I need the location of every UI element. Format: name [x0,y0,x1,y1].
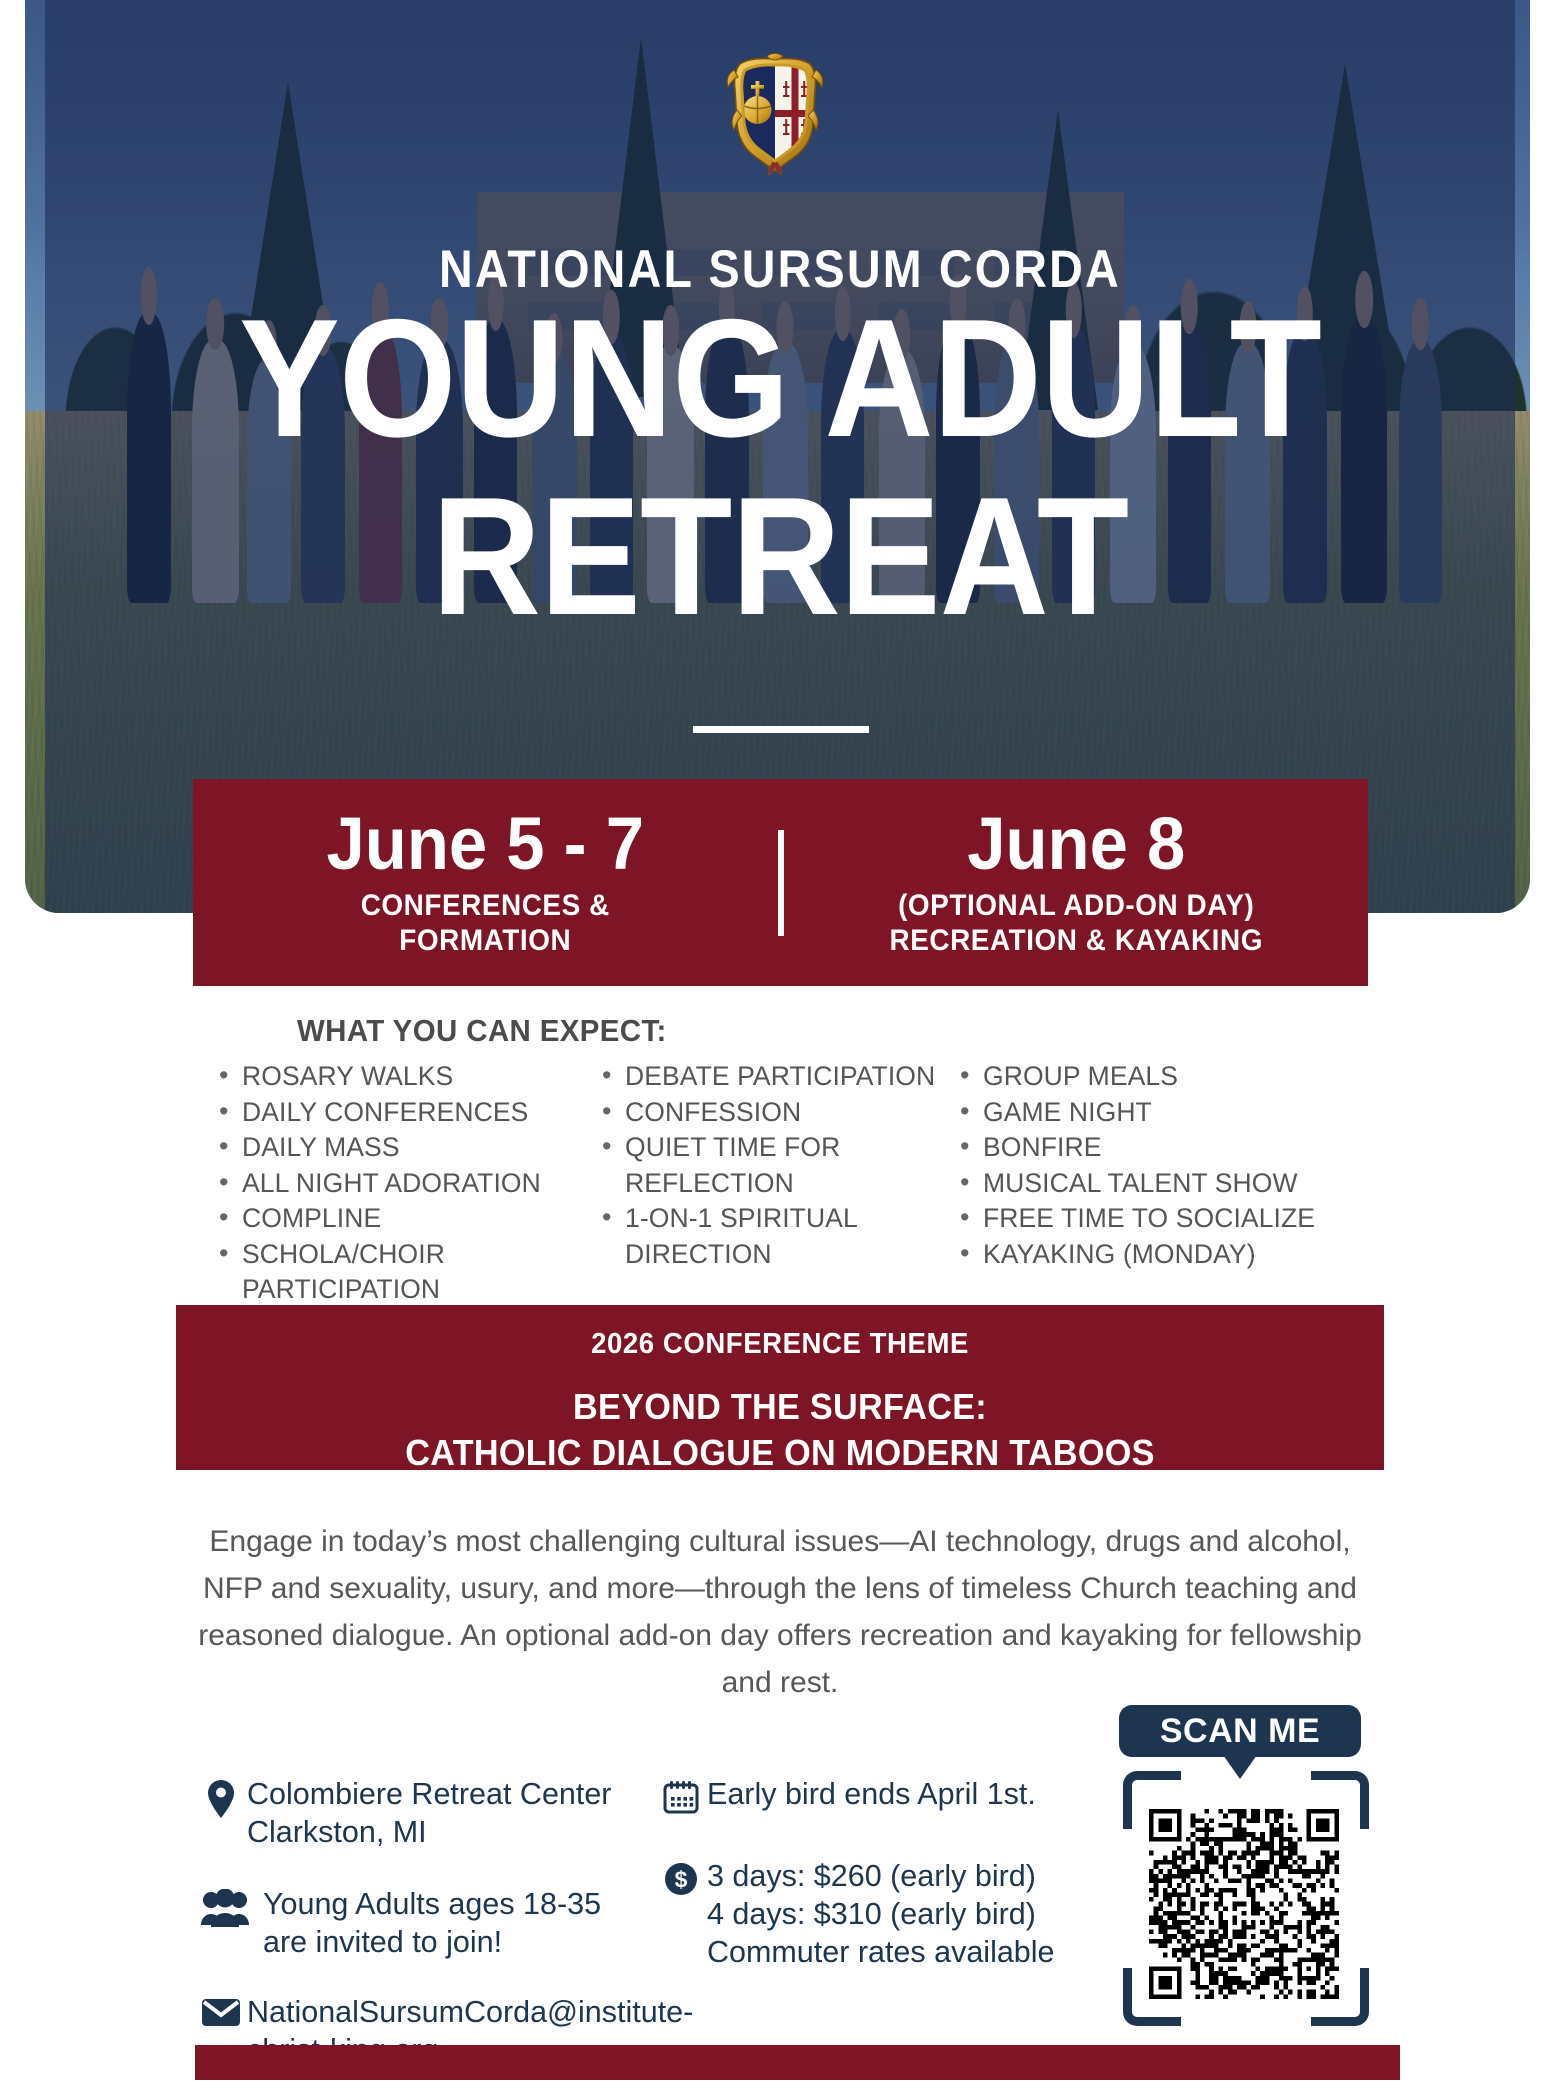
qr-code-block[interactable]: SCAN ME [1105,1705,1375,2030]
institute-crest-icon [710,48,840,176]
deadline-line1: Early bird ends April 1st. [707,1775,1036,1813]
expect-item: DAILY MASS [215,1130,598,1166]
footer-accent-bar [195,2045,1400,2080]
date-block-addon: June 8 (OPTIONAL ADD-ON DAY) RECREATION … [784,806,1369,959]
date-primary-sub-line2: FORMATION [213,924,757,959]
expect-item: REFLECTION [598,1166,956,1202]
info-row-audience: Young Adults ages 18-35 are invited to j… [195,1885,665,1961]
expect-item: GAME NIGHT [956,1095,1386,1131]
expect-item: CONFESSION [598,1095,956,1131]
expect-item: SCHOLA/CHOIR PARTICIPATION [215,1237,598,1308]
hero-title-line1: YOUNG ADULT [78,300,1482,458]
location-line2: Clarkston, MI [247,1813,611,1851]
expect-item: DAILY CONFERENCES [215,1095,598,1131]
date-range-primary: June 5 - 7 [213,806,757,881]
location-line1: Colombiere Retreat Center [247,1775,611,1813]
info-row-deadline: Early bird ends April 1st. [655,1775,1125,1815]
expect-item: KAYAKING (MONDAY) [956,1237,1386,1273]
expect-item: DEBATE PARTICIPATION [598,1059,956,1095]
expect-item: GROUP MEALS [956,1059,1386,1095]
expect-column-3: GROUP MEALSGAME NIGHTBONFIREMUSICAL TALE… [956,1059,1386,1308]
description-paragraph: Engage in today’s most challenging cultu… [195,1518,1365,1706]
info-row-location: Colombiere Retreat Center Clarkston, MI [195,1775,665,1851]
hero-title-line2: RETREAT [78,478,1482,636]
expect-item: COMPLINE [215,1201,598,1237]
expect-column-2: DEBATE PARTICIPATIONCONFESSIONQUIET TIME… [598,1059,956,1308]
people-group-icon [195,1885,255,1961]
theme-title-line1: BEYOND THE SURFACE: [206,1384,1354,1430]
expect-item: ROSARY WALKS [215,1059,598,1095]
date-primary-sub-line1: CONFERENCES & [213,889,757,924]
audience-line2: are invited to join! [263,1923,601,1961]
qr-code-image[interactable] [1149,1809,1339,1999]
expect-item: DIRECTION [598,1237,956,1273]
theme-label: 2026 CONFERENCE THEME [206,1305,1354,1361]
expect-item: FREE TIME TO SOCIALIZE [956,1201,1386,1237]
expect-item: 1-ON-1 SPIRITUAL [598,1201,956,1237]
dates-banner: June 5 - 7 CONFERENCES & FORMATION June … [193,779,1368,986]
email-line1: NationalSursumCorda@institute- [247,1993,693,2031]
expect-columns: ROSARY WALKSDAILY CONFERENCESDAILY MASSA… [215,1059,1395,1308]
date-block-conferences: June 5 - 7 CONFERENCES & FORMATION [193,806,778,959]
conference-theme-banner: 2026 CONFERENCE THEME BEYOND THE SURFACE… [176,1305,1384,1470]
svg-text:$: $ [675,1867,688,1893]
pricing-line2: 4 days: $310 (early bird) [707,1895,1125,1933]
expect-item: QUIET TIME FOR [598,1130,956,1166]
scan-me-pointer [1223,1755,1257,1779]
dollar-coin-icon: $ [655,1857,707,1971]
expect-item: MUSICAL TALENT SHOW [956,1166,1386,1202]
scan-me-label: SCAN ME [1119,1705,1361,1757]
pricing-line3: Commuter rates available [707,1933,1125,1971]
pricing-line1: 3 days: $260 (early bird) [707,1857,1125,1895]
expect-column-1: ROSARY WALKSDAILY CONFERENCESDAILY MASSA… [215,1059,598,1308]
audience-line1: Young Adults ages 18-35 [263,1885,601,1923]
info-row-pricing: $ 3 days: $260 (early bird) 4 days: $310… [655,1857,1125,1971]
expect-item: ALL NIGHT ADORATION [215,1166,598,1202]
expect-item: BONFIRE [956,1130,1386,1166]
expect-heading: WHAT YOU CAN EXPECT: [297,1013,667,1049]
theme-title-line2: CATHOLIC DIALOGUE ON MODERN TABOOS [206,1430,1354,1476]
date-addon-sub-line1: (OPTIONAL ADD-ON DAY) [804,889,1348,924]
info-column-right: Early bird ends April 1st. $ 3 days: $26… [655,1775,1125,1997]
date-addon: June 8 [804,806,1348,881]
date-addon-sub-line2: RECREATION & KAYAKING [804,924,1348,959]
calendar-icon [655,1775,707,1815]
map-pin-icon [195,1775,247,1851]
title-divider [693,726,869,733]
